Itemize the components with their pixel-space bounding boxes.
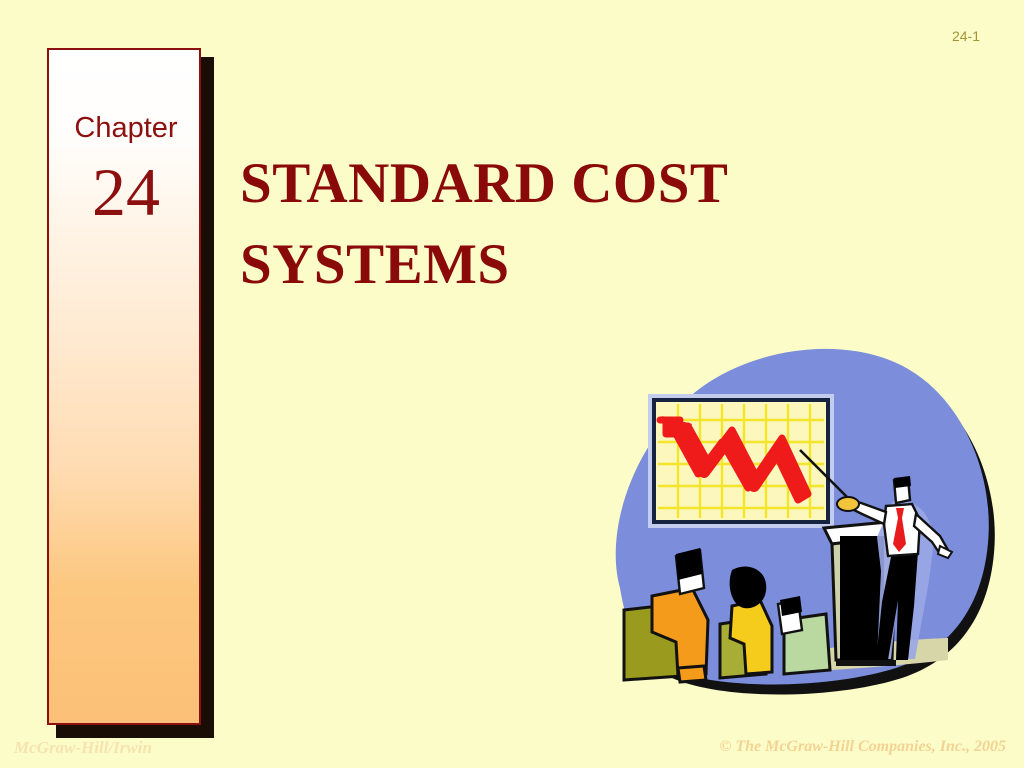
presentation-illustration: [596, 338, 996, 704]
chapter-number: 24: [49, 158, 203, 226]
person-1-leg: [678, 666, 706, 682]
person-2-head: [730, 566, 767, 608]
presenter-cuff: [837, 497, 859, 511]
podium-front: [840, 536, 884, 660]
footer-publisher: McGraw-Hill/Irwin: [14, 738, 152, 758]
podium-base: [836, 660, 896, 666]
presenter-hair: [894, 476, 911, 488]
chart-board: [648, 394, 834, 528]
slide-canvas: 24-1 Chapter 24 STANDARD COST SYSTEMS Mc…: [0, 0, 1024, 768]
page-title: STANDARD COST SYSTEMS: [240, 144, 860, 306]
footer-copyright: © The McGraw-Hill Companies, Inc., 2005: [719, 738, 1006, 756]
chapter-label: Chapter: [49, 114, 203, 143]
page-number: 24-1: [952, 28, 980, 44]
chapter-box-panel: Chapter 24: [47, 48, 201, 725]
chapter-sidebar-box: Chapter 24: [47, 48, 213, 735]
